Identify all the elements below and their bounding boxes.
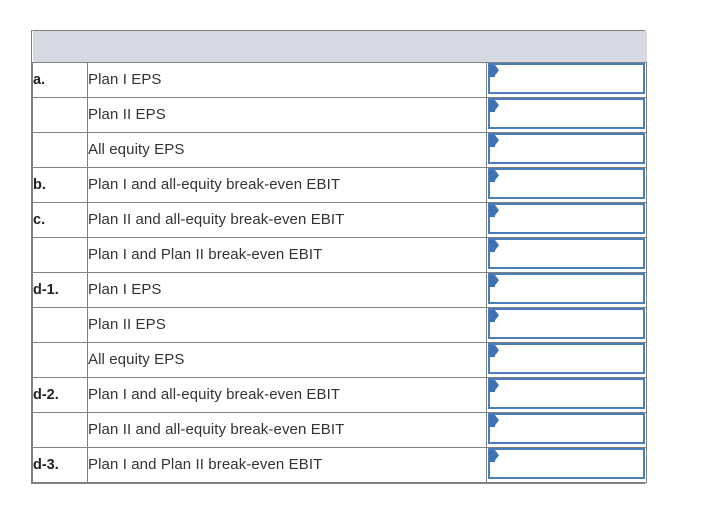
answer-input[interactable] [488, 273, 645, 304]
answer-field-wrapper [487, 273, 646, 307]
row-label: d-3. [33, 447, 88, 482]
row-description: Plan I and Plan II break-even EBIT [88, 237, 487, 272]
answer-worksheet: a.Plan I EPSPlan II EPSAll equity EPSb.P… [31, 30, 645, 484]
answer-cell [487, 272, 647, 307]
row-label: b. [33, 167, 88, 202]
row-label [33, 237, 88, 272]
table-row: All equity EPS [33, 342, 647, 377]
table-row: d-3.Plan I and Plan II break-even EBIT [33, 447, 647, 482]
row-description: Plan II EPS [88, 307, 487, 342]
answer-input[interactable] [488, 63, 645, 94]
worksheet-header-row [33, 31, 647, 62]
table-row: Plan II and all-equity break-even EBIT [33, 412, 647, 447]
table-row: c.Plan II and all-equity break-even EBIT [33, 202, 647, 237]
row-description: Plan I EPS [88, 62, 487, 97]
table-row: Plan II EPS [33, 307, 647, 342]
answer-cell [487, 62, 647, 97]
answer-cell [487, 97, 647, 132]
row-description: Plan II and all-equity break-even EBIT [88, 202, 487, 237]
row-description: All equity EPS [88, 342, 487, 377]
answer-input[interactable] [488, 413, 645, 444]
table-row: d-2.Plan I and all-equity break-even EBI… [33, 377, 647, 412]
row-description: Plan II and all-equity break-even EBIT [88, 412, 487, 447]
answer-cell [487, 167, 647, 202]
answer-input[interactable] [488, 238, 645, 269]
worksheet-table: a.Plan I EPSPlan II EPSAll equity EPSb.P… [32, 31, 647, 483]
worksheet-table-body: a.Plan I EPSPlan II EPSAll equity EPSb.P… [33, 31, 647, 482]
answer-cell [487, 202, 647, 237]
answer-input[interactable] [488, 203, 645, 234]
answer-cell [487, 342, 647, 377]
table-row: d-1.Plan I EPS [33, 272, 647, 307]
row-description: Plan I and Plan II break-even EBIT [88, 447, 487, 482]
answer-cell [487, 447, 647, 482]
answer-field-wrapper [487, 343, 646, 377]
table-row: All equity EPS [33, 132, 647, 167]
row-label: c. [33, 202, 88, 237]
answer-cell [487, 377, 647, 412]
answer-input[interactable] [488, 98, 645, 129]
row-description: Plan I EPS [88, 272, 487, 307]
row-label [33, 97, 88, 132]
row-label: d-1. [33, 272, 88, 307]
answer-input[interactable] [488, 133, 645, 164]
row-description: Plan I and all-equity break-even EBIT [88, 377, 487, 412]
answer-field-wrapper [487, 238, 646, 272]
answer-field-wrapper [487, 168, 646, 202]
answer-input[interactable] [488, 343, 645, 374]
answer-field-wrapper [487, 203, 646, 237]
answer-input[interactable] [488, 448, 645, 479]
row-description: Plan II EPS [88, 97, 487, 132]
table-row: Plan II EPS [33, 97, 647, 132]
table-row: a.Plan I EPS [33, 62, 647, 97]
row-description: All equity EPS [88, 132, 487, 167]
answer-field-wrapper [487, 378, 646, 412]
answer-cell [487, 307, 647, 342]
answer-field-wrapper [487, 133, 646, 167]
row-description: Plan I and all-equity break-even EBIT [88, 167, 487, 202]
table-row: b.Plan I and all-equity break-even EBIT [33, 167, 647, 202]
table-row: Plan I and Plan II break-even EBIT [33, 237, 647, 272]
answer-input[interactable] [488, 378, 645, 409]
row-label [33, 132, 88, 167]
row-label [33, 342, 88, 377]
worksheet-header-cell [33, 31, 647, 62]
answer-cell [487, 132, 647, 167]
row-label: a. [33, 62, 88, 97]
answer-field-wrapper [487, 448, 646, 482]
answer-input[interactable] [488, 308, 645, 339]
row-label [33, 412, 88, 447]
answer-cell [487, 237, 647, 272]
answer-field-wrapper [487, 63, 646, 97]
answer-input[interactable] [488, 168, 645, 199]
answer-field-wrapper [487, 98, 646, 132]
row-label: d-2. [33, 377, 88, 412]
answer-cell [487, 412, 647, 447]
row-label [33, 307, 88, 342]
answer-field-wrapper [487, 308, 646, 342]
answer-field-wrapper [487, 413, 646, 447]
